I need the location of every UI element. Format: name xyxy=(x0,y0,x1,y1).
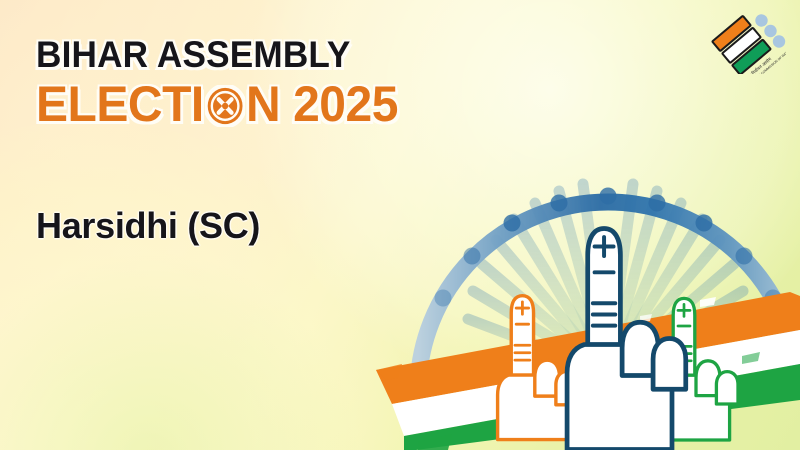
svg-text:Jamui: Jamui xyxy=(613,368,640,379)
headline-block: BIHAR ASSEMBLY ELECTI N 2025 xyxy=(36,36,466,129)
svg-text:Bhagalpur: Bhagalpur xyxy=(690,270,736,281)
voter-finger-center xyxy=(567,228,686,449)
svg-text:Supaul: Supaul xyxy=(696,162,727,173)
svg-text:Sheohar: Sheohar xyxy=(568,169,602,179)
svg-text:Saharsa: Saharsa xyxy=(669,210,707,221)
svg-text:Vaishali: Vaishali xyxy=(486,254,520,265)
svg-text:Jehanabad: Jehanabad xyxy=(454,322,504,333)
election-title-part2: N 2025 xyxy=(246,79,398,129)
svg-text:Muzaffarpur: Muzaffarpur xyxy=(502,202,556,213)
svg-text:Madhepura: Madhepura xyxy=(697,224,748,235)
svg-text:Samastipur: Samastipur xyxy=(558,250,609,261)
indian-tricolour-band xyxy=(376,292,800,450)
svg-text:Madhubani: Madhubani xyxy=(638,152,687,163)
svg-text:Nawada: Nawada xyxy=(558,360,595,371)
voter-finger-left xyxy=(498,296,579,440)
svg-text:Saran: Saran xyxy=(455,224,482,235)
voter-finger-right xyxy=(660,298,738,440)
svg-text:ganj: ganj xyxy=(781,190,798,200)
svg-text:Sitamarhi: Sitamarhi xyxy=(586,144,628,155)
district-labels: Pashchim Champaran Purba Champaran Sitam… xyxy=(371,98,800,379)
svg-text:Nalanda: Nalanda xyxy=(543,316,581,327)
svg-text:Siwan: Siwan xyxy=(429,182,456,193)
svg-text:(Bhabua): (Bhabua) xyxy=(371,343,412,354)
svg-text:Katihar: Katihar xyxy=(765,274,797,285)
svg-text:Banka: Banka xyxy=(670,342,699,353)
svg-text:Champaran: Champaran xyxy=(522,161,574,172)
svg-text:Kishan: Kishan xyxy=(776,180,800,190)
election-year-title: ELECTI N 2025 xyxy=(36,79,449,129)
election-title-part1: ELECTI xyxy=(36,79,204,129)
election-banner: Pashchim Champaran Purba Champaran Sitam… xyxy=(0,0,800,450)
constituency-name: Harsidhi (SC) xyxy=(36,208,260,244)
svg-text:Kaimur: Kaimur xyxy=(376,332,408,343)
svg-text:Pashchim: Pashchim xyxy=(460,98,504,109)
svg-text:Buxar: Buxar xyxy=(409,274,436,285)
ashoka-chakra-wheel xyxy=(418,182,798,392)
election-commission-of-india-logo: भारत निर्वाचन आयोग ELECTION COMMISSION O… xyxy=(708,8,786,74)
svg-text:Begusarai: Begusarai xyxy=(601,286,646,297)
svg-text:Khagaria: Khagaria xyxy=(640,250,680,261)
svg-text:Aurangabad: Aurangabad xyxy=(419,364,474,375)
svg-text:Bhojpur: Bhojpur xyxy=(448,282,483,293)
svg-text:Darbhanga: Darbhanga xyxy=(595,200,645,211)
background-glow-left xyxy=(0,120,410,450)
page-title: BIHAR ASSEMBLY xyxy=(36,36,445,73)
svg-text:Gaya: Gaya xyxy=(496,356,520,367)
svg-text:Gopalganj: Gopalganj xyxy=(418,134,464,145)
background-glow-bottom-left xyxy=(0,250,360,450)
svg-text:Patna: Patna xyxy=(500,296,527,307)
svg-text:Purnia: Purnia xyxy=(751,230,780,241)
svg-text:Purba: Purba xyxy=(535,150,562,161)
ballot-cross-mark-icon xyxy=(205,85,245,127)
svg-text:Lakhisarai: Lakhisarai xyxy=(603,322,649,333)
svg-text:Rohtas: Rohtas xyxy=(398,320,430,331)
svg-text:Munger: Munger xyxy=(647,310,678,320)
svg-text:Araria: Araria xyxy=(742,172,769,183)
